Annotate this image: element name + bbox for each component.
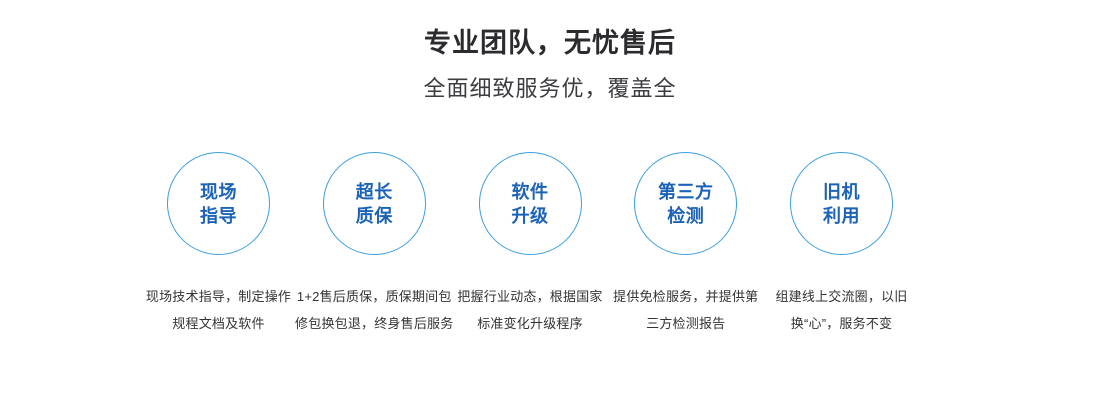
feature-caption-3: 把握行业动态，根据国家 标准变化升级程序: [446, 283, 614, 337]
circle-shape-4: 第三方 检测: [634, 152, 737, 255]
circle-shape-5: 旧机 利用: [790, 152, 893, 255]
caption-line1: 组建线上交流圈，以旧: [758, 283, 926, 310]
circle-label-line1: 第三方: [658, 180, 714, 204]
feature-circle-5[interactable]: 旧机 利用: [790, 152, 893, 255]
caption-line2: 标准变化升级程序: [446, 310, 614, 337]
circle-label-line2: 指导: [200, 204, 237, 228]
feature-caption-row: 现场技术指导，制定操作 规程文档及软件 1+2售后质保，质保期间包 修包换包退，…: [0, 283, 1100, 343]
feature-circle-1[interactable]: 现场 指导: [167, 152, 270, 255]
caption-line1: 1+2售后质保，质保期间包: [290, 283, 458, 310]
caption-line1: 现场技术指导，制定操作: [135, 283, 303, 310]
circle-label-line2: 利用: [823, 204, 860, 228]
circle-label-line2: 检测: [667, 204, 704, 228]
feature-caption-5: 组建线上交流圈，以旧 换“心”，服务不变: [758, 283, 926, 337]
feature-circle-3[interactable]: 软件 升级: [479, 152, 582, 255]
circle-label-line1: 软件: [512, 180, 549, 204]
feature-circle-2[interactable]: 超长 质保: [323, 152, 426, 255]
caption-line2: 规程文档及软件: [135, 310, 303, 337]
section-title: 专业团队，无忧售后: [0, 24, 1100, 62]
caption-line2: 换“心”，服务不变: [758, 310, 926, 337]
feature-caption-2: 1+2售后质保，质保期间包 修包换包退，终身售后服务: [290, 283, 458, 337]
circle-shape-1: 现场 指导: [167, 152, 270, 255]
circle-shape-3: 软件 升级: [479, 152, 582, 255]
caption-line2: 三方检测报告: [602, 310, 770, 337]
section-heading-block: 专业团队，无忧售后 全面细致服务优，覆盖全: [0, 24, 1100, 105]
circle-shape-2: 超长 质保: [323, 152, 426, 255]
feature-caption-4: 提供免检服务，并提供第 三方检测报告: [602, 283, 770, 337]
feature-circle-4[interactable]: 第三方 检测: [634, 152, 737, 255]
feature-caption-1: 现场技术指导，制定操作 规程文档及软件: [135, 283, 303, 337]
after-sales-service-section: 专业团队，无忧售后 全面细致服务优，覆盖全 现场 指导 超长 质保 软件 升级 …: [0, 0, 1100, 404]
feature-circle-row: 现场 指导 超长 质保 软件 升级 第三方 检测 旧机: [167, 152, 893, 256]
circle-label-line1: 旧机: [823, 180, 860, 204]
caption-line1: 把握行业动态，根据国家: [446, 283, 614, 310]
caption-line2: 修包换包退，终身售后服务: [290, 310, 458, 337]
circle-label-line1: 超长: [356, 180, 393, 204]
circle-label-line1: 现场: [200, 180, 237, 204]
section-subtitle: 全面细致服务优，覆盖全: [0, 73, 1100, 105]
circle-label-line2: 质保: [356, 204, 393, 228]
circle-label-line2: 升级: [512, 204, 549, 228]
caption-line1: 提供免检服务，并提供第: [602, 283, 770, 310]
